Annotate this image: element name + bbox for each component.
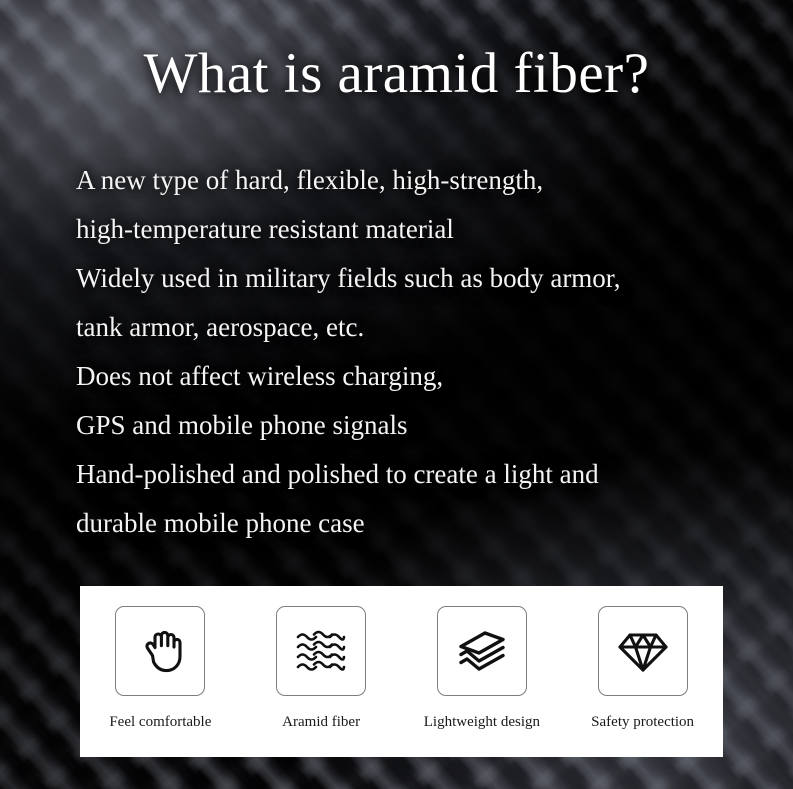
- body-line: Widely used in military fields such as b…: [76, 254, 776, 303]
- feature-item-aramid-fiber: Aramid fiber: [241, 606, 402, 731]
- icon-box: [437, 606, 527, 696]
- body-line: durable mobile phone case: [76, 499, 776, 548]
- feature-item-lightweight-design: Lightweight design: [402, 606, 563, 731]
- feature-label: Feel comfortable: [109, 713, 211, 731]
- icon-box: [598, 606, 688, 696]
- feature-item-feel-comfortable: Feel comfortable: [80, 606, 241, 731]
- feature-item-safety-protection: Safety protection: [562, 606, 723, 731]
- body-line: A new type of hard, flexible, high-stren…: [76, 156, 776, 205]
- body-line: tank armor, aerospace, etc.: [76, 303, 776, 352]
- diamond-icon: [616, 626, 670, 676]
- icon-box: [276, 606, 366, 696]
- body-line: Does not affect wireless charging,: [76, 352, 776, 401]
- poster: What is aramid fiber? A new type of hard…: [0, 0, 793, 789]
- body-line: high-temperature resistant material: [76, 205, 776, 254]
- feature-row: Feel comfortable: [80, 586, 723, 757]
- feature-label: Aramid fiber: [282, 713, 360, 731]
- waves-icon: [294, 626, 348, 676]
- feature-panel: Feel comfortable: [80, 586, 723, 757]
- poster-content: What is aramid fiber? A new type of hard…: [0, 0, 793, 789]
- hand-icon: [134, 625, 186, 677]
- feature-label: Safety protection: [591, 713, 694, 731]
- body-line: Hand-polished and polished to create a l…: [76, 450, 776, 499]
- icon-box: [115, 606, 205, 696]
- page-title: What is aramid fiber?: [0, 42, 793, 106]
- feature-label: Lightweight design: [424, 713, 540, 731]
- body-line: GPS and mobile phone signals: [76, 401, 776, 450]
- layers-icon: [455, 626, 509, 676]
- body-copy: A new type of hard, flexible, high-stren…: [76, 156, 776, 548]
